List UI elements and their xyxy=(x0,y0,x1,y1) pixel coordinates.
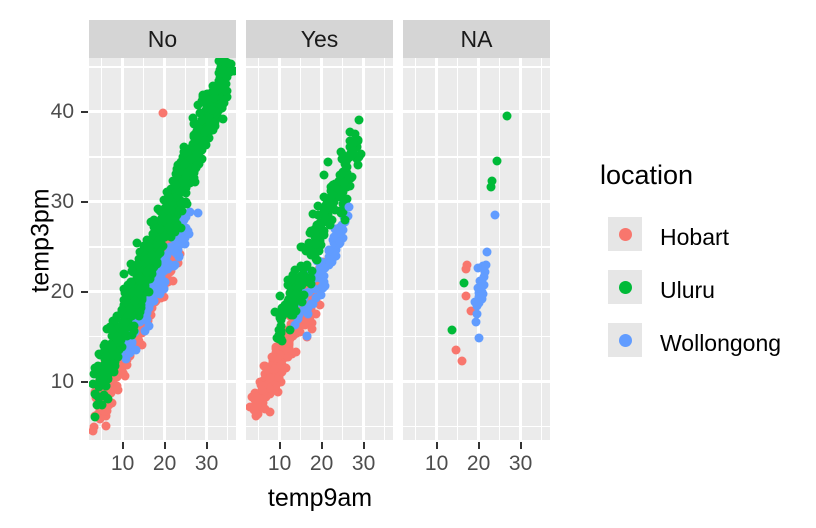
y-tick-label: 20 xyxy=(14,281,74,302)
gridline-major-vertical xyxy=(519,58,522,440)
legend-key-dot xyxy=(619,281,632,294)
facet-strip-yes: Yes xyxy=(246,20,393,58)
x-tick-label: 10 xyxy=(111,453,134,474)
data-point xyxy=(275,335,284,344)
data-point xyxy=(108,325,117,334)
data-point xyxy=(257,385,266,394)
data-point xyxy=(164,214,173,223)
data-point xyxy=(179,235,188,244)
x-tick-mark xyxy=(164,442,166,449)
data-point xyxy=(276,322,285,331)
gridline-major-vertical xyxy=(362,58,365,440)
x-tick-mark xyxy=(478,442,480,449)
data-point xyxy=(447,326,456,335)
data-point xyxy=(339,168,348,177)
data-point xyxy=(471,297,480,306)
data-point xyxy=(321,282,330,291)
data-point xyxy=(349,150,358,159)
y-tick-mark xyxy=(81,291,88,293)
y-tick-label: 30 xyxy=(14,191,74,212)
data-point xyxy=(488,177,497,186)
y-axis-title: temp3pm xyxy=(27,151,56,331)
legend-key-dot xyxy=(619,334,632,347)
x-tick-label: 10 xyxy=(268,453,291,474)
data-point xyxy=(102,351,111,360)
data-point xyxy=(164,222,173,231)
facet-strip-no: No xyxy=(89,20,236,58)
data-point xyxy=(457,356,466,365)
data-point xyxy=(145,304,154,313)
x-tick-mark xyxy=(279,442,281,449)
data-point xyxy=(164,265,173,274)
data-point xyxy=(130,297,139,306)
legend-key-dot xyxy=(619,228,632,241)
panel-yes xyxy=(246,58,393,440)
data-point xyxy=(307,251,316,260)
data-point xyxy=(350,137,359,146)
x-tick-mark xyxy=(363,442,365,449)
data-point xyxy=(324,246,333,255)
x-tick-mark xyxy=(122,442,124,449)
data-point xyxy=(260,405,269,414)
x-tick-label: 10 xyxy=(425,453,448,474)
data-point xyxy=(476,283,485,292)
data-point xyxy=(98,375,107,384)
legend-key-uluru[interactable] xyxy=(608,270,642,304)
x-tick-label: 30 xyxy=(195,453,218,474)
x-tick-label: 30 xyxy=(352,453,375,474)
legend-key-hobart[interactable] xyxy=(608,217,642,251)
x-tick-mark xyxy=(321,442,323,449)
data-point xyxy=(459,278,468,287)
data-point xyxy=(299,270,308,279)
data-point xyxy=(90,423,99,432)
data-point xyxy=(132,238,141,247)
data-point xyxy=(102,422,111,431)
data-point xyxy=(313,202,322,211)
data-point xyxy=(155,224,164,233)
data-point xyxy=(267,352,276,361)
x-tick-mark xyxy=(436,442,438,449)
data-point xyxy=(183,169,192,178)
data-point xyxy=(225,68,234,77)
data-point xyxy=(116,335,125,344)
data-point xyxy=(354,161,363,170)
data-point xyxy=(347,173,356,182)
gridline-major-vertical xyxy=(121,58,124,440)
data-point xyxy=(134,274,143,283)
data-point xyxy=(118,306,127,315)
data-point xyxy=(473,310,482,319)
data-point xyxy=(325,258,334,267)
data-point xyxy=(164,194,173,203)
data-point xyxy=(316,291,325,300)
data-point xyxy=(503,111,512,120)
data-point xyxy=(120,319,129,328)
legend-label-uluru: Uluru xyxy=(660,279,715,302)
data-point xyxy=(319,193,328,202)
data-point-outlier xyxy=(158,108,167,117)
data-point xyxy=(128,330,137,339)
data-point xyxy=(276,361,285,370)
data-point xyxy=(103,395,112,404)
data-point xyxy=(326,201,335,210)
data-point xyxy=(145,243,154,252)
data-point xyxy=(134,287,143,296)
data-point xyxy=(292,347,301,356)
data-point-outlier xyxy=(345,203,354,212)
data-point xyxy=(91,412,100,421)
data-point xyxy=(313,211,322,220)
facet-strip-label: NA xyxy=(461,28,493,51)
data-point xyxy=(340,178,349,187)
data-point xyxy=(481,267,490,276)
data-point xyxy=(120,270,129,279)
x-tick-mark xyxy=(206,442,208,449)
data-point xyxy=(316,221,325,230)
data-point xyxy=(207,105,216,114)
data-point xyxy=(186,208,195,217)
data-point xyxy=(153,283,162,292)
legend-label-hobart: Hobart xyxy=(660,226,729,249)
legend-title: location xyxy=(600,160,693,191)
data-point xyxy=(320,231,329,240)
data-point xyxy=(209,93,218,102)
data-point xyxy=(337,148,346,157)
gridline-major-vertical xyxy=(477,58,480,440)
x-tick-label: 30 xyxy=(509,453,532,474)
legend-label-wollongong: Wollongong xyxy=(660,332,781,355)
plot-root: temp3pm temp9am 10203040 NoYesNA 1020301… xyxy=(0,0,816,528)
data-point xyxy=(296,243,305,252)
data-point xyxy=(283,276,292,285)
data-point xyxy=(320,170,329,179)
data-point xyxy=(324,158,333,167)
data-point xyxy=(302,332,311,341)
data-point xyxy=(284,352,293,361)
data-point xyxy=(133,259,142,268)
data-point xyxy=(472,318,481,327)
data-point xyxy=(306,226,315,235)
data-point xyxy=(192,129,201,138)
data-point xyxy=(285,325,294,334)
data-point xyxy=(328,190,337,199)
data-point xyxy=(144,322,153,331)
data-point xyxy=(451,346,460,355)
data-point xyxy=(201,98,210,107)
data-point xyxy=(255,394,264,403)
data-point xyxy=(492,157,501,166)
data-point xyxy=(143,276,152,285)
data-point xyxy=(462,292,471,301)
data-point xyxy=(105,365,114,374)
y-tick-mark xyxy=(81,111,88,113)
data-point xyxy=(284,305,293,314)
facet-strip-label: Yes xyxy=(301,28,339,51)
data-point xyxy=(326,221,335,230)
x-axis-title: temp9am xyxy=(89,484,551,513)
data-point xyxy=(108,342,117,351)
y-tick-mark xyxy=(81,201,88,203)
data-point xyxy=(463,260,472,269)
x-tick-label: 20 xyxy=(153,453,176,474)
data-point xyxy=(305,239,314,248)
panel-no xyxy=(89,58,236,440)
data-point xyxy=(218,114,227,123)
data-point xyxy=(490,211,499,220)
data-point xyxy=(158,233,167,242)
data-point xyxy=(336,237,345,246)
data-point-outlier xyxy=(355,116,364,125)
data-point xyxy=(307,279,316,288)
data-point xyxy=(298,298,307,307)
facet-strip-label: No xyxy=(148,28,177,51)
x-tick-label: 20 xyxy=(467,453,490,474)
data-point xyxy=(483,248,492,257)
panel-na xyxy=(403,58,550,440)
gridline-major-vertical xyxy=(435,58,438,440)
data-point xyxy=(204,125,213,134)
data-point xyxy=(265,373,274,382)
data-point xyxy=(197,143,206,152)
y-tick-label: 40 xyxy=(14,101,74,122)
x-tick-label: 20 xyxy=(310,453,333,474)
data-point xyxy=(198,116,207,125)
data-point xyxy=(162,204,171,213)
y-tick-mark xyxy=(81,381,88,383)
data-point xyxy=(474,334,483,343)
data-point xyxy=(91,390,100,399)
data-point xyxy=(172,181,181,190)
facet-strip-na: NA xyxy=(403,20,550,58)
x-tick-mark xyxy=(520,442,522,449)
y-tick-label: 10 xyxy=(14,371,74,392)
data-point xyxy=(142,268,151,277)
data-point xyxy=(214,76,223,85)
legend-key-wollongong[interactable] xyxy=(608,323,642,357)
